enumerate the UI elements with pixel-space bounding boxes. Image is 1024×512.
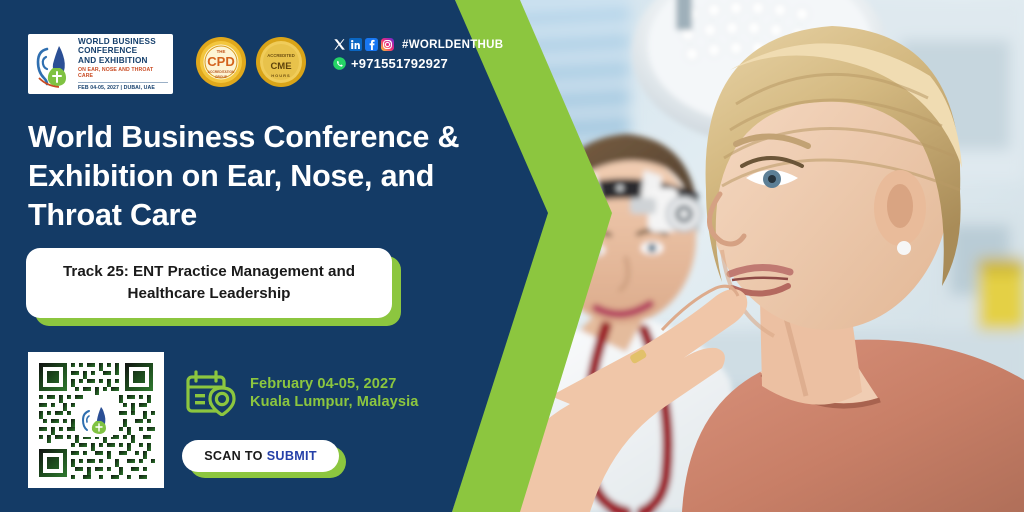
instagram-icon[interactable]: [381, 38, 394, 51]
svg-text:ACCREDITATION: ACCREDITATION: [208, 70, 235, 74]
qr-code-submit[interactable]: [28, 352, 164, 488]
accreditation-badges: THE CPD ACCREDITATION GROUP ACCREDITED C…: [195, 36, 307, 88]
logo-footer: FEB 04-05, 2027 | DUBAI, UAE: [78, 82, 168, 91]
social-contact-block: #WORLDENTHUB +971551792927: [333, 38, 503, 71]
track-title: Track 25: ENT Practice Management and He…: [40, 261, 378, 304]
phone-number: +971551792927: [351, 56, 448, 71]
ent-examination-photo: [430, 0, 1024, 512]
logo-line-2: CONFERENCE: [78, 46, 168, 56]
whatsapp-row: +971551792927: [333, 56, 503, 71]
hashtag-label: #WORLDENTHUB: [402, 39, 503, 51]
event-location: Kuala Lumpur, Malaysia: [250, 394, 418, 410]
logo-subtitle: ON EAR, NOSE AND THROAT CARE: [78, 67, 168, 79]
x-twitter-icon[interactable]: [333, 38, 346, 51]
scan-button-face[interactable]: SCAN TO SUBMIT: [182, 440, 339, 472]
left-content-panel: WORLD BUSINESS CONFERENCE AND EXHIBITION…: [0, 0, 470, 512]
scan-label-prefix: SCAN TO: [204, 449, 263, 463]
svg-text:CPD: CPD: [207, 54, 234, 69]
logo-text-block: WORLD BUSINESS CONFERENCE AND EXHIBITION…: [78, 37, 168, 92]
svg-text:HOURS: HOURS: [271, 73, 290, 78]
cpd-accreditation-badge: THE CPD ACCREDITATION GROUP: [195, 36, 247, 88]
scan-label-action: SUBMIT: [267, 449, 317, 463]
facebook-icon[interactable]: [365, 38, 378, 51]
svg-text:CME: CME: [270, 61, 291, 72]
cme-accredited-badge: ACCREDITED CME HOURS: [255, 36, 307, 88]
scan-to-submit-button[interactable]: SCAN TO SUBMIT: [182, 440, 348, 476]
conference-banner: WORLD BUSINESS CONFERENCE AND EXHIBITION…: [0, 0, 1024, 512]
event-info: February 04-05, 2027 Kuala Lumpur, Malay…: [186, 370, 418, 416]
event-date: February 04-05, 2027: [250, 376, 418, 392]
svg-text:ACCREDITED: ACCREDITED: [267, 53, 294, 58]
linkedin-icon[interactable]: [349, 38, 362, 51]
logo-line-1: WORLD BUSINESS: [78, 37, 168, 47]
logo-line-3: AND EXHIBITION: [78, 56, 168, 66]
ear-and-throat-logo-icon: [33, 40, 73, 88]
track-banner: Track 25: ENT Practice Management and He…: [26, 248, 401, 326]
world-business-conference-logo: WORLD BUSINESS CONFERENCE AND EXHIBITION…: [28, 34, 173, 94]
track-banner-box: Track 25: ENT Practice Management and He…: [26, 248, 392, 318]
page-title: World Business Conference & Exhibition o…: [28, 118, 478, 235]
whatsapp-icon[interactable]: [333, 57, 346, 70]
svg-text:GROUP: GROUP: [215, 75, 228, 79]
event-info-text: February 04-05, 2027 Kuala Lumpur, Malay…: [250, 376, 418, 410]
event-info-icons: [186, 370, 240, 416]
header-row: WORLD BUSINESS CONFERENCE AND EXHIBITION…: [28, 34, 503, 94]
social-icons-row: #WORLDENTHUB: [333, 38, 503, 51]
